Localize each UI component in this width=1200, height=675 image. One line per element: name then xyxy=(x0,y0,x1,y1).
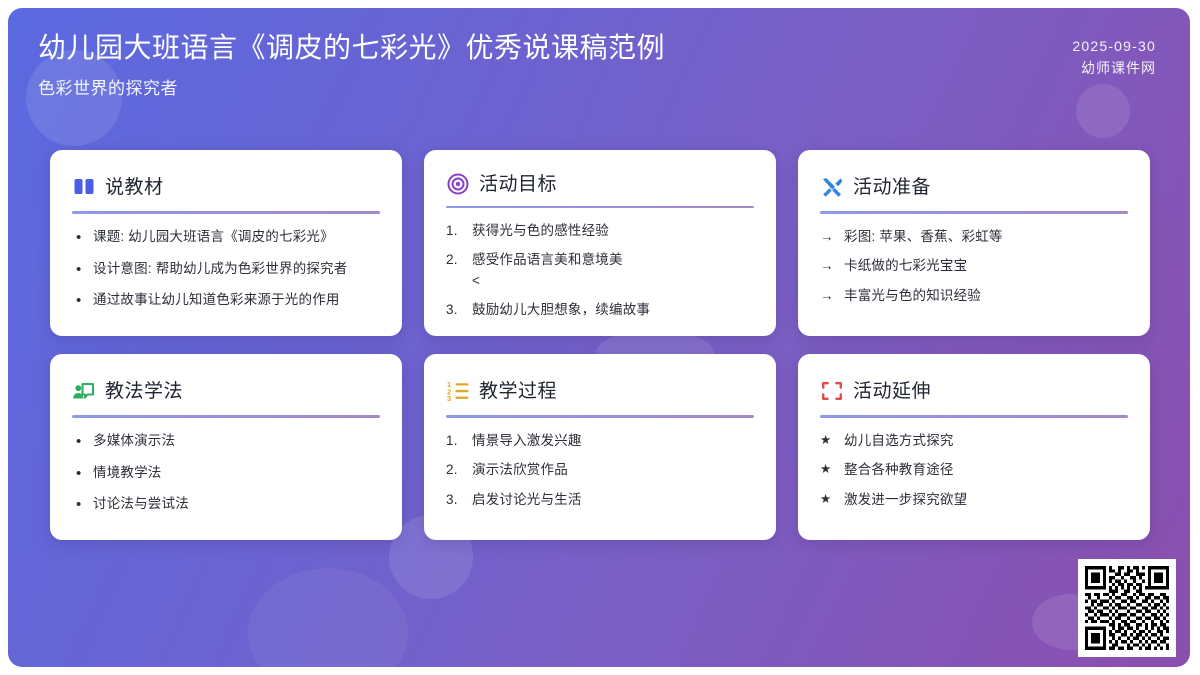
list-item: 2.感受作品语言美和意境美 < xyxy=(446,250,754,291)
qr-code-container[interactable] xyxy=(1078,559,1176,657)
list-item: •情境教学法 xyxy=(72,463,380,486)
card-teaching-methods[interactable]: 教法学法•多媒体演示法•情境教学法•讨论法与尝试法 xyxy=(50,354,402,540)
card-teaching-material[interactable]: 说教材•课题: 幼儿园大班语言《调皮的七彩光》•设计意图: 帮助幼儿成为色彩世界… xyxy=(50,150,402,336)
list-marker: 1. xyxy=(446,221,465,241)
list-item: ★幼儿自选方式探究 xyxy=(820,431,1128,451)
tools-icon xyxy=(820,175,844,199)
target-icon xyxy=(446,172,470,196)
card-divider xyxy=(446,415,754,418)
card-list: •多媒体演示法•情境教学法•讨论法与尝试法 xyxy=(72,431,380,517)
card-header: 说教材 xyxy=(72,172,380,202)
card-list: ★幼儿自选方式探究★整合各种教育途径★激发进一步探究欲望 xyxy=(820,431,1128,510)
list-item: 1.情景导入激发兴趣 xyxy=(446,431,754,451)
numbered-list-icon: 123 xyxy=(446,379,470,403)
list-marker: • xyxy=(72,259,86,282)
title-block: 幼儿园大班语言《调皮的七彩光》优秀说课稿范例 色彩世界的探究者 xyxy=(38,30,665,99)
header-site-name: 幼师课件网 xyxy=(1072,58,1156,80)
list-item-text: 鼓励幼儿大胆想象，续编故事 xyxy=(472,300,754,320)
card-divider xyxy=(446,206,754,208)
list-marker: → xyxy=(820,286,837,306)
header-date: 2025-09-30 xyxy=(1072,36,1156,58)
card-divider xyxy=(72,415,380,418)
list-item-text: 获得光与色的感性经验 xyxy=(472,221,754,241)
list-item-text: 幼儿自选方式探究 xyxy=(844,431,1128,451)
list-item: ★整合各种教育途径 xyxy=(820,460,1128,480)
list-item-text: 设计意图: 帮助幼儿成为色彩世界的探究者 xyxy=(93,259,380,279)
slide-header: 幼儿园大班语言《调皮的七彩光》优秀说课稿范例 色彩世界的探究者 2025-09-… xyxy=(8,8,1190,128)
page-title: 幼儿园大班语言《调皮的七彩光》优秀说课稿范例 xyxy=(38,30,665,66)
list-item: •讨论法与尝试法 xyxy=(72,494,380,517)
list-item-text: 启发讨论光与生活 xyxy=(472,490,754,510)
list-item: 3.鼓励幼儿大胆想象，续编故事 xyxy=(446,300,754,320)
presenter-board-icon xyxy=(72,379,96,403)
card-header: 活动延伸 xyxy=(820,376,1128,406)
list-item: →彩图: 苹果、香蕉、彩虹等 xyxy=(820,227,1128,247)
list-item: →卡纸做的七彩光宝宝 xyxy=(820,256,1128,276)
card-divider xyxy=(820,211,1128,214)
card-title: 活动准备 xyxy=(853,178,931,197)
expand-brackets-icon xyxy=(820,379,844,403)
card-header: 活动准备 xyxy=(820,172,1128,202)
card-title: 教法学法 xyxy=(105,382,183,401)
card-activity-goals[interactable]: 活动目标1.获得光与色的感性经验2.感受作品语言美和意境美 <3.鼓励幼儿大胆想… xyxy=(424,150,776,336)
header-meta: 2025-09-30 幼师课件网 xyxy=(1072,30,1156,79)
list-item-text: 通过故事让幼儿知道色彩来源于光的作用 xyxy=(93,290,380,310)
list-item-text: 丰富光与色的知识经验 xyxy=(844,286,1128,306)
list-item-text: 激发进一步探究欲望 xyxy=(844,490,1128,510)
list-item-text: 情景导入激发兴趣 xyxy=(472,431,754,451)
card-title: 教学过程 xyxy=(479,382,557,401)
list-item-text: 感受作品语言美和意境美 < xyxy=(472,250,754,291)
svg-text:3: 3 xyxy=(447,394,451,403)
page-subtitle: 色彩世界的探究者 xyxy=(38,74,665,99)
list-item: •设计意图: 帮助幼儿成为色彩世界的探究者 xyxy=(72,259,380,282)
list-item: 2.演示法欣赏作品 xyxy=(446,460,754,480)
list-item: →丰富光与色的知识经验 xyxy=(820,286,1128,306)
card-list: •课题: 幼儿园大班语言《调皮的七彩光》•设计意图: 帮助幼儿成为色彩世界的探究… xyxy=(72,227,380,313)
list-item-text: 整合各种教育途径 xyxy=(844,460,1128,480)
slide-canvas: 幼儿园大班语言《调皮的七彩光》优秀说课稿范例 色彩世界的探究者 2025-09-… xyxy=(8,8,1190,667)
decor-circle-bottom-left xyxy=(248,568,408,667)
list-marker: • xyxy=(72,431,86,454)
list-marker: 2. xyxy=(446,460,465,480)
list-item-text: 卡纸做的七彩光宝宝 xyxy=(844,256,1128,276)
card-teaching-process[interactable]: 123教学过程1.情景导入激发兴趣2.演示法欣赏作品3.启发讨论光与生活 xyxy=(424,354,776,540)
list-marker: • xyxy=(72,227,86,250)
list-marker: 1. xyxy=(446,431,465,451)
card-grid: 说教材•课题: 幼儿园大班语言《调皮的七彩光》•设计意图: 帮助幼儿成为色彩世界… xyxy=(50,150,1160,540)
card-activity-extension[interactable]: 活动延伸★幼儿自选方式探究★整合各种教育途径★激发进一步探究欲望 xyxy=(798,354,1150,540)
slide-root: 幼儿园大班语言《调皮的七彩光》优秀说课稿范例 色彩世界的探究者 2025-09-… xyxy=(0,0,1200,675)
list-marker: 2. xyxy=(446,250,465,270)
card-divider xyxy=(72,211,380,214)
list-item: •多媒体演示法 xyxy=(72,431,380,454)
list-marker: → xyxy=(820,256,837,276)
card-list: 1.获得光与色的感性经验2.感受作品语言美和意境美 <3.鼓励幼儿大胆想象，续编… xyxy=(446,221,754,320)
card-header: 123教学过程 xyxy=(446,376,754,406)
card-divider xyxy=(820,415,1128,418)
list-item: 3.启发讨论光与生活 xyxy=(446,490,754,510)
list-item-text: 彩图: 苹果、香蕉、彩虹等 xyxy=(844,227,1128,247)
list-item-text: 多媒体演示法 xyxy=(93,431,380,451)
open-book-icon xyxy=(72,175,96,199)
list-marker: • xyxy=(72,463,86,486)
list-marker: ★ xyxy=(820,431,837,450)
list-item-text: 讨论法与尝试法 xyxy=(93,494,380,514)
list-item-text: 演示法欣赏作品 xyxy=(472,460,754,480)
list-marker: 3. xyxy=(446,300,465,320)
list-marker: • xyxy=(72,290,86,313)
card-title: 说教材 xyxy=(105,178,164,197)
list-marker: ★ xyxy=(820,490,837,509)
list-marker: • xyxy=(72,494,86,517)
list-item: •通过故事让幼儿知道色彩来源于光的作用 xyxy=(72,290,380,313)
list-marker: → xyxy=(820,227,837,247)
card-header: 教法学法 xyxy=(72,376,380,406)
card-title: 活动延伸 xyxy=(853,382,931,401)
list-marker: 3. xyxy=(446,490,465,510)
qr-code xyxy=(1085,566,1169,650)
card-activity-preparation[interactable]: 活动准备→彩图: 苹果、香蕉、彩虹等→卡纸做的七彩光宝宝→丰富光与色的知识经验 xyxy=(798,150,1150,336)
card-list: →彩图: 苹果、香蕉、彩虹等→卡纸做的七彩光宝宝→丰富光与色的知识经验 xyxy=(820,227,1128,306)
card-title: 活动目标 xyxy=(479,175,557,194)
list-item-text: 课题: 幼儿园大班语言《调皮的七彩光》 xyxy=(93,227,380,247)
list-item: •课题: 幼儿园大班语言《调皮的七彩光》 xyxy=(72,227,380,250)
list-marker: ★ xyxy=(820,460,837,479)
card-list: 1.情景导入激发兴趣2.演示法欣赏作品3.启发讨论光与生活 xyxy=(446,431,754,510)
list-item: ★激发进一步探究欲望 xyxy=(820,490,1128,510)
list-item-text: 情境教学法 xyxy=(93,463,380,483)
card-header: 活动目标 xyxy=(446,172,754,197)
list-item: 1.获得光与色的感性经验 xyxy=(446,221,754,241)
